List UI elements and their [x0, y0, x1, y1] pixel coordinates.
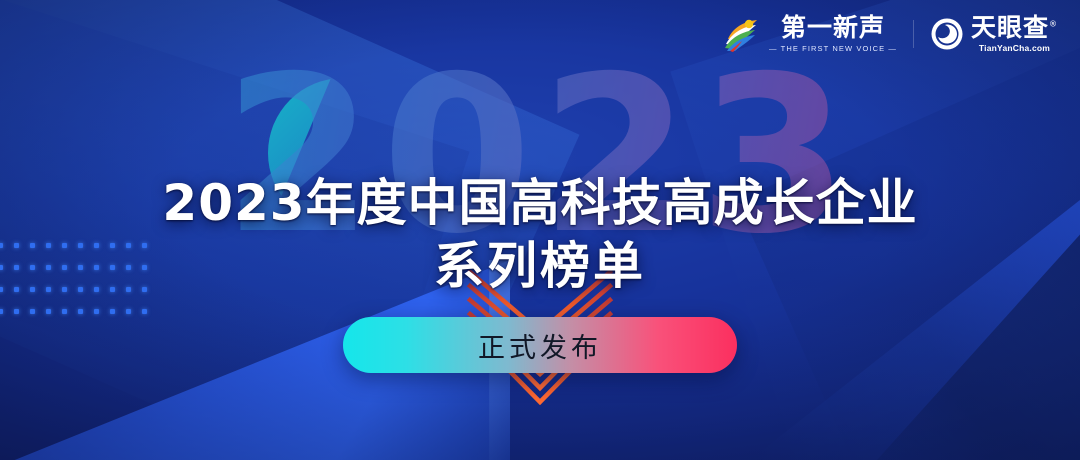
tianyancha-name-label: 天眼查 [971, 13, 1049, 42]
dot [126, 309, 131, 314]
dot [14, 309, 19, 314]
first-new-voice-mark-icon [722, 14, 762, 54]
dot [0, 309, 3, 314]
promo-banner: 2023 2 [0, 0, 1080, 460]
page-title: 2023年度中国高科技高成长企业 系列榜单 [0, 172, 1080, 298]
tianyancha-text: 天眼查® TianYanCha.com [971, 15, 1058, 52]
first-new-voice-text: 第一新声 — THE FIRST NEW VOICE — [769, 15, 897, 52]
tianyancha-trademark: ® [1049, 20, 1058, 29]
dot [142, 309, 147, 314]
dot [78, 309, 83, 314]
logo-tianyancha[interactable]: 天眼查® TianYanCha.com [930, 15, 1058, 52]
dot [110, 309, 115, 314]
logo-first-new-voice[interactable]: 第一新声 — THE FIRST NEW VOICE — [722, 14, 897, 54]
logo-divider [913, 20, 914, 48]
headline-line-2: 系列榜单 [434, 237, 646, 295]
dot [94, 309, 99, 314]
release-button[interactable]: 正式发布 [343, 317, 737, 373]
dot [46, 309, 51, 314]
first-new-voice-name: 第一新声 [781, 15, 885, 41]
dot [30, 309, 35, 314]
logo-bar: 第一新声 — THE FIRST NEW VOICE — 天眼查® TianYa… [722, 14, 1058, 54]
dot [62, 309, 67, 314]
tianyancha-eye-mark-icon [930, 17, 964, 51]
tianyancha-name: 天眼查® [971, 15, 1058, 41]
release-button-label: 正式发布 [478, 326, 602, 365]
headline-line-1: 2023年度中国高科技高成长企业 [162, 174, 917, 232]
tianyancha-domain: TianYanCha.com [979, 43, 1050, 53]
first-new-voice-tagline: — THE FIRST NEW VOICE — [769, 44, 897, 53]
